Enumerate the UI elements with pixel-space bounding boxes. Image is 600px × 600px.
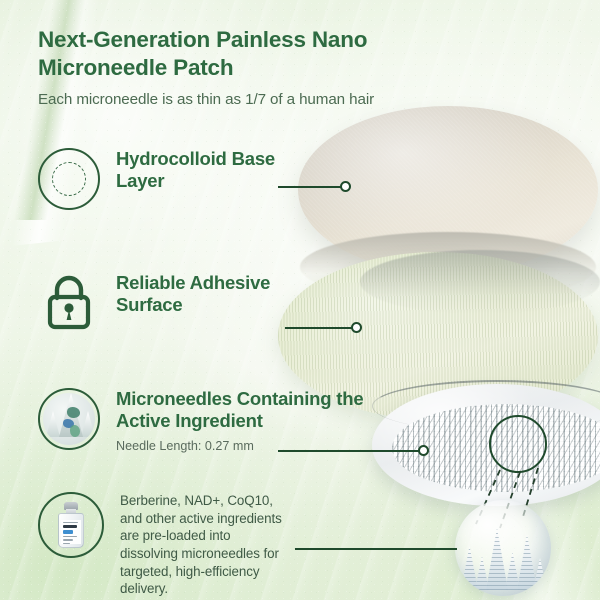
vial-label-line xyxy=(63,522,78,523)
feature-heading: Hydrocolloid Base Layer xyxy=(116,148,296,192)
magnified-cone xyxy=(533,558,547,590)
dashed-circle-inner xyxy=(52,162,86,196)
vial-label-line xyxy=(63,543,70,544)
crystal-cone xyxy=(81,411,95,437)
vial-label-brand xyxy=(63,525,77,528)
crystal-tint-blob xyxy=(70,425,80,437)
magnified-cone xyxy=(475,556,489,590)
feature-text: Berberine, NAD+, CoQ10, and other active… xyxy=(120,492,290,598)
crystal-tint-blob xyxy=(67,407,80,418)
padlock-icon-glyph xyxy=(44,275,94,331)
vial-label-line xyxy=(63,536,77,537)
magnified-cone xyxy=(505,552,520,590)
leader-dot-adhesive xyxy=(351,322,362,333)
dashed-circle-icon xyxy=(38,148,100,210)
leader-line-ingredients xyxy=(295,548,457,550)
microneedle-magnified-inset xyxy=(455,500,551,596)
magnified-cone xyxy=(517,534,537,590)
page-title: Next-Generation Painless Nano Microneedl… xyxy=(38,26,458,83)
leader-dot-hydrocolloid xyxy=(340,181,351,192)
vial-body xyxy=(58,513,84,548)
vial-label xyxy=(61,520,81,544)
feature-text: Hydrocolloid Base Layer xyxy=(116,148,296,192)
crystal-cone xyxy=(46,411,60,437)
leader-dot-microneedles xyxy=(418,445,429,456)
magnified-cone xyxy=(461,546,478,590)
microneedle-crystal-icon xyxy=(38,388,100,450)
vial-label-badge xyxy=(63,530,73,535)
feature-microneedles-active-ingredient: Microneedles Containing the Active Ingre… xyxy=(38,388,378,453)
padlock-icon xyxy=(38,272,100,334)
feature-subtext-needle-length: Needle Length: 0.27 mm xyxy=(116,439,378,453)
feature-text: Microneedles Containing the Active Ingre… xyxy=(116,388,378,453)
adhesive-surface-disc-shadow xyxy=(360,250,600,314)
feature-hydrocolloid-base-layer: Hydrocolloid Base Layer xyxy=(38,148,296,210)
page-subtitle: Each microneedle is as thin as 1/7 of a … xyxy=(38,90,458,110)
feature-heading: Reliable Adhesive Surface xyxy=(116,272,321,316)
feature-reliable-adhesive-surface: Reliable Adhesive Surface xyxy=(38,272,321,334)
magnifier-target-ring xyxy=(489,415,547,473)
feature-heading: Microneedles Containing the Active Ingre… xyxy=(116,388,378,432)
feature-active-ingredients: Berberine, NAD+, CoQ10, and other active… xyxy=(38,492,290,598)
vial-art xyxy=(57,502,85,548)
microneedle-crystal-art xyxy=(43,393,95,445)
vial-label-line xyxy=(63,539,73,540)
header: Next-Generation Painless Nano Microneedl… xyxy=(38,26,458,109)
feature-body-ingredients: Berberine, NAD+, CoQ10, and other active… xyxy=(120,492,290,598)
vial-icon xyxy=(38,492,104,558)
magnified-cone xyxy=(486,528,508,590)
feature-text: Reliable Adhesive Surface xyxy=(116,272,321,316)
